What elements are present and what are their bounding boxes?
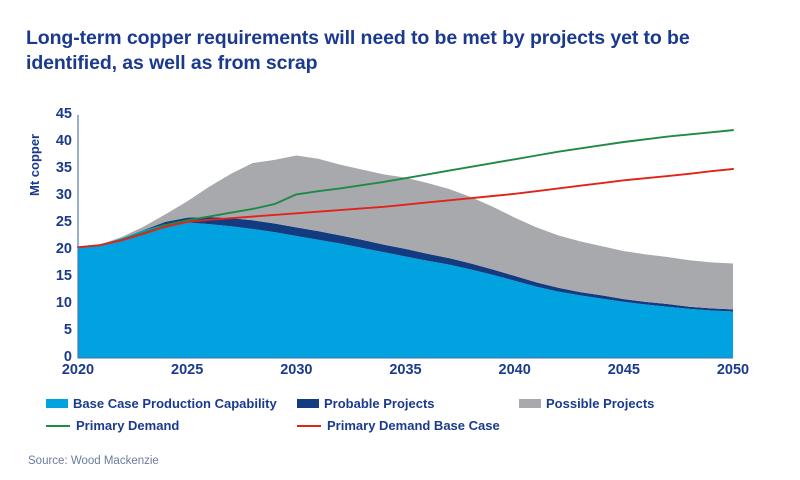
x-axis-tick-label: 2025 bbox=[171, 362, 203, 378]
page-title: Long-term copper requirements will need … bbox=[26, 26, 746, 76]
x-axis-tick-label: 2035 bbox=[389, 362, 421, 378]
legend-item-primary-demand[interactable]: Primary Demand bbox=[46, 418, 179, 433]
legend-line-icon bbox=[297, 425, 321, 427]
legend-item-label: Primary Demand Base Case bbox=[327, 418, 500, 433]
legend-item-label: Possible Projects bbox=[546, 396, 654, 411]
y-axis-tick-label: 35 bbox=[38, 160, 72, 176]
legend-item-label: Base Case Production Capability bbox=[73, 396, 277, 411]
x-axis-tick-label: 2020 bbox=[62, 362, 94, 378]
legend-swatch-icon bbox=[297, 399, 319, 408]
y-axis-tick-label: 30 bbox=[38, 187, 72, 203]
legend-row-1: Base Case Production Capability Probable… bbox=[46, 396, 786, 418]
y-axis-tick-label: 10 bbox=[38, 295, 72, 311]
legend-line-icon bbox=[46, 425, 70, 427]
legend-row-2: Primary Demand Primary Demand Base Case bbox=[46, 418, 786, 440]
y-axis-tick-label: 5 bbox=[38, 322, 72, 338]
y-axis-ticks: 051015202530354045 bbox=[38, 100, 72, 360]
legend-item-label: Probable Projects bbox=[324, 396, 435, 411]
legend-swatch-icon bbox=[46, 399, 68, 408]
chart-plot-area bbox=[0, 100, 800, 375]
legend-swatch-icon bbox=[519, 399, 541, 408]
y-axis-tick-label: 40 bbox=[38, 133, 72, 149]
legend-item-probable-projects[interactable]: Probable Projects bbox=[297, 396, 435, 411]
y-axis-tick-label: 15 bbox=[38, 268, 72, 284]
legend-item-base-case[interactable]: Base Case Production Capability bbox=[46, 396, 277, 411]
legend-item-primary-demand-base-case[interactable]: Primary Demand Base Case bbox=[297, 418, 500, 433]
x-axis-tick-label: 2040 bbox=[499, 362, 531, 378]
x-axis-tick-label: 2030 bbox=[280, 362, 312, 378]
source-note: Source: Wood Mackenzie bbox=[28, 455, 159, 467]
y-axis-tick-label: 20 bbox=[38, 241, 72, 257]
legend-item-possible-projects[interactable]: Possible Projects bbox=[519, 396, 654, 411]
legend-item-label: Primary Demand bbox=[76, 418, 179, 433]
copper-supply-demand-chart bbox=[0, 100, 800, 375]
x-axis-tick-label: 2050 bbox=[717, 362, 749, 378]
x-axis-ticks: 2020202520302035204020452050 bbox=[0, 362, 800, 386]
y-axis-tick-label: 45 bbox=[38, 106, 72, 122]
chart-legend: Base Case Production Capability Probable… bbox=[46, 396, 786, 440]
y-axis-tick-label: 25 bbox=[38, 214, 72, 230]
x-axis-tick-label: 2045 bbox=[608, 362, 640, 378]
